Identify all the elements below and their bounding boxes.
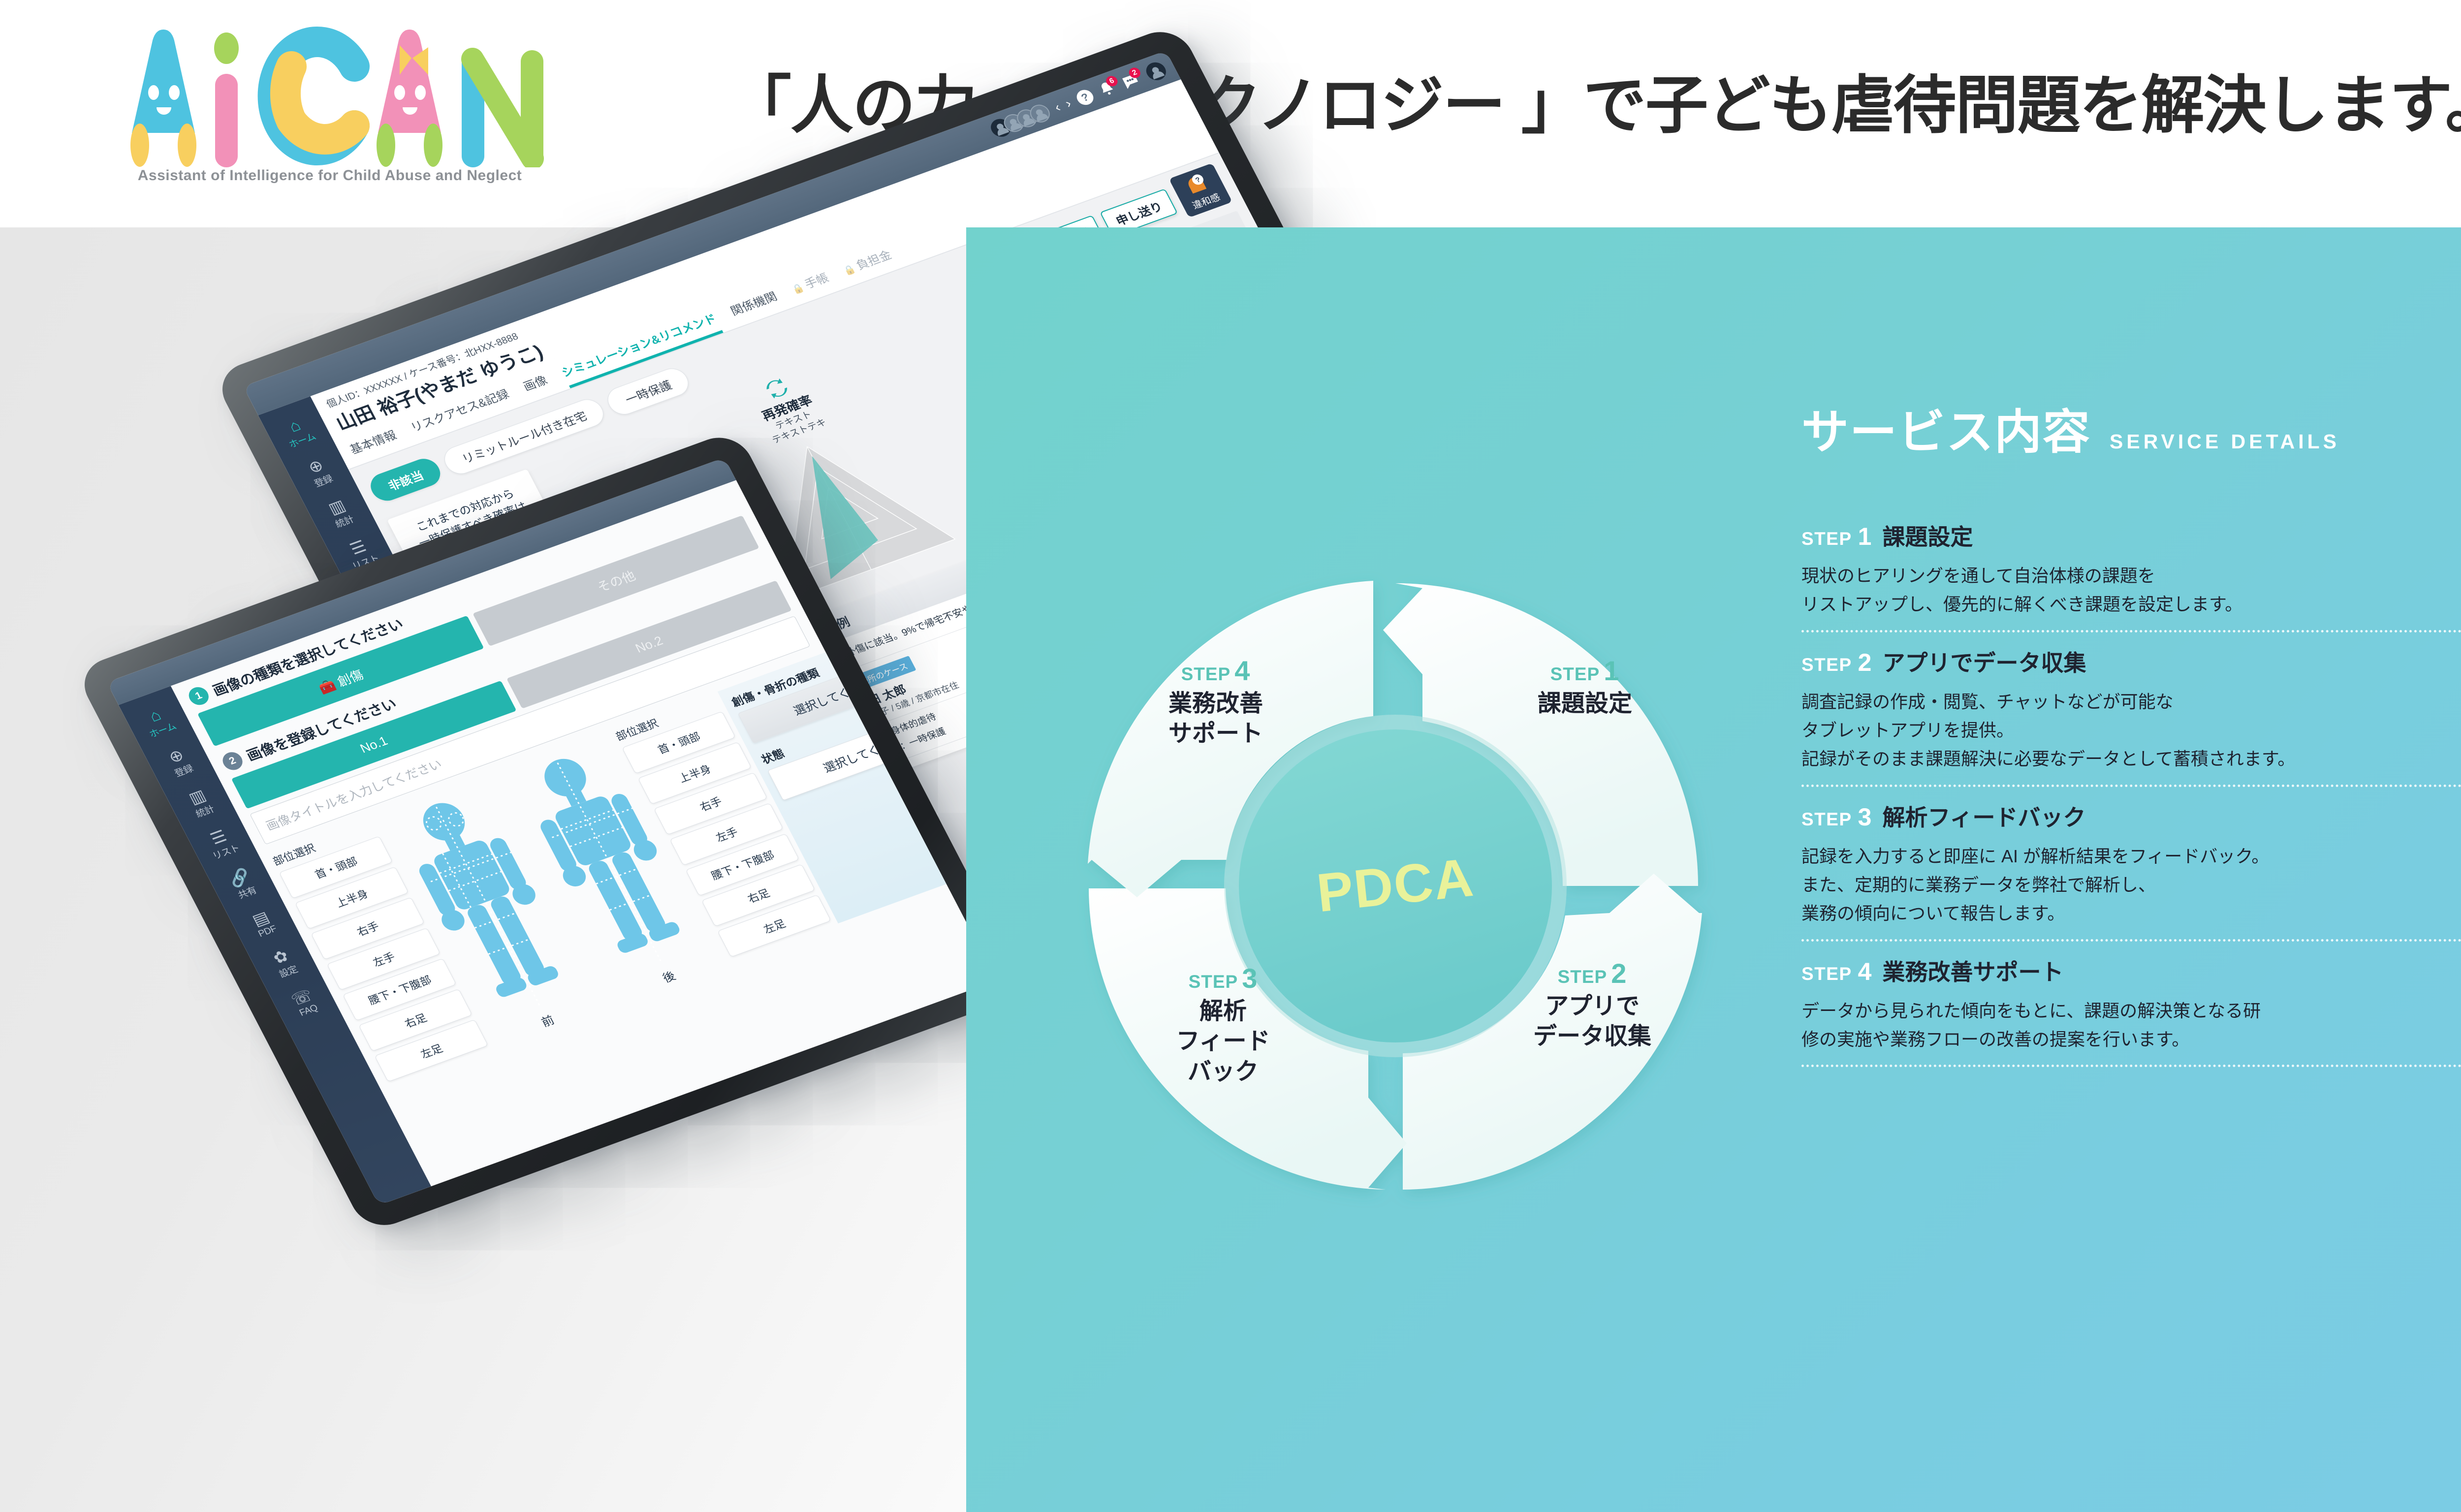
- step-body: 調査記録の作成・閲覧、チャットなどが可能な タブレットアプリを提供。 記録がその…: [1801, 688, 2461, 774]
- step-name: 業務改善サポート: [1882, 954, 2063, 987]
- step-number: 2: [220, 750, 246, 773]
- service-step-3: STEP 3 解析フィードバック 記録を入力すると即座に AI が解析結果をフィ…: [1801, 787, 2461, 942]
- wheel-step-name: 業務改善 サポート: [1107, 689, 1324, 749]
- step-number: 1: [1858, 526, 1872, 548]
- service-title-en: SERVICE DETAILS: [2110, 430, 2340, 453]
- wheel-label-step2: STEP2 アプリで データ収集: [1486, 957, 1698, 1052]
- aican-logo-icon: [79, 20, 581, 167]
- step-number: 1: [186, 685, 212, 708]
- logo-tagline: Assistant of Intelligence for Child Abus…: [59, 167, 600, 184]
- wheel-step-word: STEP3: [1115, 962, 1331, 994]
- brand-logo: Assistant of Intelligence for Child Abus…: [59, 20, 600, 182]
- step-word: STEP: [1801, 655, 1852, 675]
- help-icon[interactable]: ?: [1073, 87, 1097, 108]
- sidebar-item-label: 統計: [334, 514, 356, 530]
- chat-icon[interactable]: 2: [1119, 70, 1143, 91]
- service-steps-list: STEP 1 課題設定 現状のヒアリングを通して自治体様の課題を リストアップし…: [1801, 519, 2461, 1067]
- decision-pill-not-applicable[interactable]: 非該当: [366, 455, 445, 504]
- step-word: STEP: [1801, 809, 1852, 830]
- prev-icon[interactable]: ‹: [1052, 100, 1063, 114]
- wheel-label-step4: STEP4 業務改善 サポート: [1107, 655, 1324, 749]
- wheel-step-word: STEP1: [1477, 655, 1693, 687]
- step-title: STEP 1 課題設定: [1801, 519, 2461, 552]
- step-number: 2: [1858, 652, 1872, 674]
- wheel-step-name: 課題設定: [1477, 689, 1693, 719]
- service-step-4: STEP 4 業務改善サポート データから見られた傾向をもとに、課題の解決策とな…: [1801, 942, 2461, 1068]
- service-title: サービス内容 SERVICE DETAILS: [1801, 394, 2340, 462]
- step-name: 解析フィードバック: [1882, 800, 2085, 832]
- step-word: STEP: [1801, 964, 1852, 984]
- user-avatar[interactable]: [1143, 60, 1169, 83]
- wheel-label-step3: STEP3 解析 フィード バック: [1115, 962, 1331, 1087]
- step-name: 課題設定: [1882, 519, 1973, 552]
- recurrence-icon: [762, 376, 791, 401]
- bell-icon[interactable]: 6: [1096, 78, 1120, 99]
- sidebar-item-label: 統計: [194, 804, 216, 819]
- step-title: STEP 4 業務改善サポート: [1801, 954, 2461, 987]
- sidebar-item-label: 登録: [173, 763, 195, 779]
- service-step-2: STEP 2 アプリでデータ収集 調査記録の作成・閲覧、チャットなどが可能な タ…: [1801, 632, 2461, 787]
- step-word: STEP: [1801, 529, 1852, 549]
- service-step-1: STEP 1 課題設定 現状のヒアリングを通して自治体様の課題を リストアップし…: [1801, 519, 2461, 632]
- pdca-wheel-diagram: STEP1 課題設定 STEP2 アプリで データ収集 STEP3 解析 フィー…: [1078, 568, 1713, 1203]
- service-title-ja: サービス内容: [1801, 394, 2091, 462]
- handover-label: 申し送り: [1112, 197, 1165, 228]
- wheel-step-name: アプリで データ収集: [1486, 991, 1698, 1052]
- step-body: 現状のヒアリングを通して自治体様の課題を リストアップし、優先的に解くべき課題を…: [1801, 562, 2461, 619]
- head-question-icon: ?: [1182, 171, 1212, 196]
- sidebar-item-label: 登録: [313, 474, 335, 489]
- step-title: STEP 2 アプリでデータ収集: [1801, 645, 2461, 678]
- odd-feeling-button[interactable]: ? 違和感: [1169, 163, 1232, 218]
- sidebar-item-label: 設定: [278, 964, 300, 979]
- product-photo-panel: ‹ › ? 6 2: [0, 227, 966, 1512]
- wheel-step-name: 解析 フィード バック: [1115, 996, 1331, 1087]
- wheel-step-word: STEP2: [1486, 957, 1698, 989]
- step-body: 記録を入力すると即座に AI が解析結果をフィードバック。 また、定期的に業務デ…: [1801, 842, 2461, 928]
- step-number: 4: [1858, 961, 1872, 983]
- step-name: アプリでデータ収集: [1882, 645, 2086, 678]
- step-number: 3: [1858, 806, 1872, 828]
- step-body: データから見られた傾向をもとに、課題の解決策となる研 修の実施や業務フローの改善…: [1801, 997, 2461, 1054]
- next-icon[interactable]: ›: [1063, 96, 1073, 110]
- wheel-step-word: STEP4: [1107, 655, 1324, 687]
- step-title: STEP 3 解析フィードバック: [1801, 800, 2461, 832]
- wheel-label-step1: STEP1 課題設定: [1477, 655, 1693, 719]
- poster-page: Assistant of Intelligence for Child Abus…: [0, 0, 2461, 1512]
- sidebar-item-label: 共有: [236, 885, 258, 901]
